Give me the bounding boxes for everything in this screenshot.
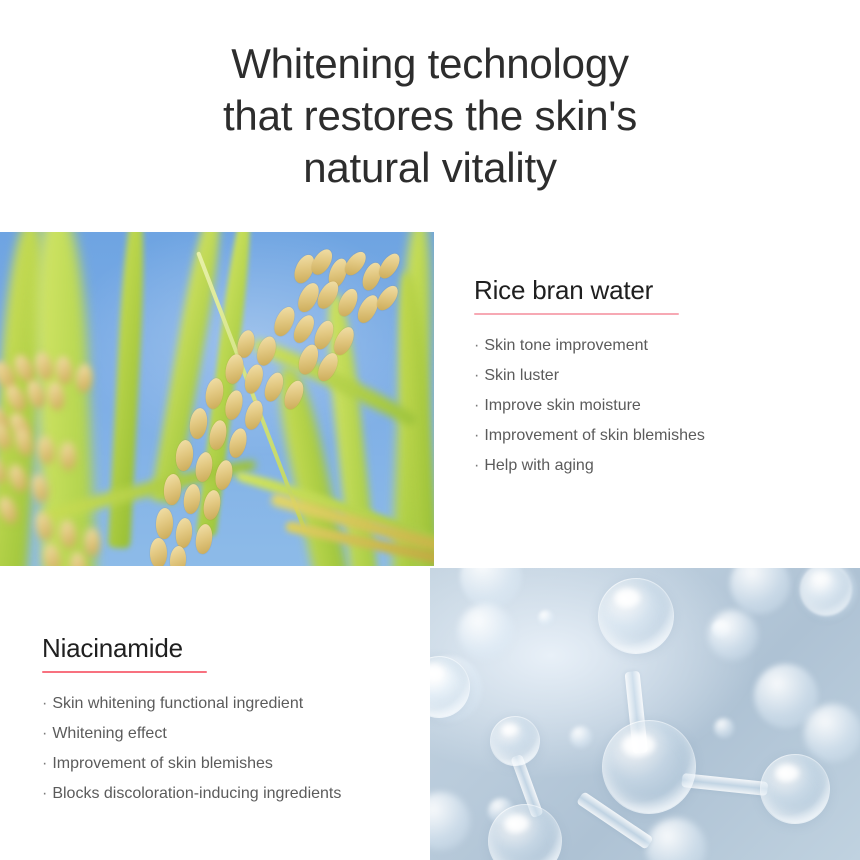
list-item-label: Improvement of skin blemishes xyxy=(484,427,705,444)
list-item-label: Skin whitening functional ingredient xyxy=(52,695,303,712)
list-item-label: Help with aging xyxy=(484,457,593,474)
blurred-sphere xyxy=(708,610,758,660)
blurred-sphere xyxy=(730,568,790,614)
niacinamide-section: Niacinamide ·Skin whitening functional i… xyxy=(42,632,432,809)
molecule-photo xyxy=(430,568,860,860)
blurred-sphere xyxy=(804,704,860,762)
list-item: ·Improve skin moisture xyxy=(474,391,854,421)
bullet-dot-icon: · xyxy=(474,457,479,474)
blurred-sphere xyxy=(458,604,514,660)
blurred-sphere xyxy=(538,610,554,626)
list-item: ·Skin tone improvement xyxy=(474,331,854,361)
section-title-rice-bran-water: Rice bran water xyxy=(474,274,854,306)
rice-field-photo xyxy=(0,232,434,566)
product-detail-page: Whitening technology that restores the s… xyxy=(0,0,860,860)
list-item: ·Skin luster xyxy=(474,361,854,391)
title-underline-niacinamide xyxy=(42,671,207,673)
list-item-label: Improve skin moisture xyxy=(484,397,641,414)
list-item: ·Blocks discoloration-inducing ingredien… xyxy=(42,779,432,809)
bullet-dot-icon: · xyxy=(42,755,47,772)
bullet-dot-icon: · xyxy=(474,397,479,414)
title-underline-rice xyxy=(474,313,679,315)
list-item: ·Improvement of skin blemishes xyxy=(474,421,854,451)
niacinamide-bullet-list: ·Skin whitening functional ingredient ·W… xyxy=(42,689,432,809)
blurred-sphere xyxy=(460,568,522,608)
list-item: ·Help with aging xyxy=(474,451,854,481)
blurred-sphere xyxy=(714,718,734,738)
list-item: ·Skin whitening functional ingredient xyxy=(42,689,432,719)
list-item: ·Whitening effect xyxy=(42,719,432,749)
blurred-sphere xyxy=(570,726,592,748)
bullet-dot-icon: · xyxy=(474,337,479,354)
rice-bran-water-section: Rice bran water ·Skin tone improvement ·… xyxy=(474,274,854,481)
page-headline: Whitening technology that restores the s… xyxy=(0,38,860,194)
rice-bran-water-bullet-list: ·Skin tone improvement ·Skin luster ·Imp… xyxy=(474,331,854,481)
list-item-label: Blocks discoloration-inducing ingredient… xyxy=(52,785,341,802)
list-item-label: Skin luster xyxy=(484,367,559,384)
bullet-dot-icon: · xyxy=(474,427,479,444)
molecule-atom-sphere xyxy=(602,720,696,814)
blurred-sphere xyxy=(646,818,706,860)
section-title-niacinamide: Niacinamide xyxy=(42,632,432,664)
bullet-dot-icon: · xyxy=(42,695,47,712)
molecule-atom-sphere xyxy=(490,716,540,766)
bullet-dot-icon: · xyxy=(42,725,47,742)
blurred-sphere xyxy=(430,792,470,850)
molecule-atom-sphere xyxy=(760,754,830,824)
bullet-dot-icon: · xyxy=(474,367,479,384)
molecule-atom-sphere xyxy=(598,578,674,654)
list-item-label: Skin tone improvement xyxy=(484,337,648,354)
list-item-label: Improvement of skin blemishes xyxy=(52,755,273,772)
list-item: ·Improvement of skin blemishes xyxy=(42,749,432,779)
rice-panicle-blurred xyxy=(30,504,230,566)
list-item-label: Whitening effect xyxy=(52,725,166,742)
bullet-dot-icon: · xyxy=(42,785,47,802)
